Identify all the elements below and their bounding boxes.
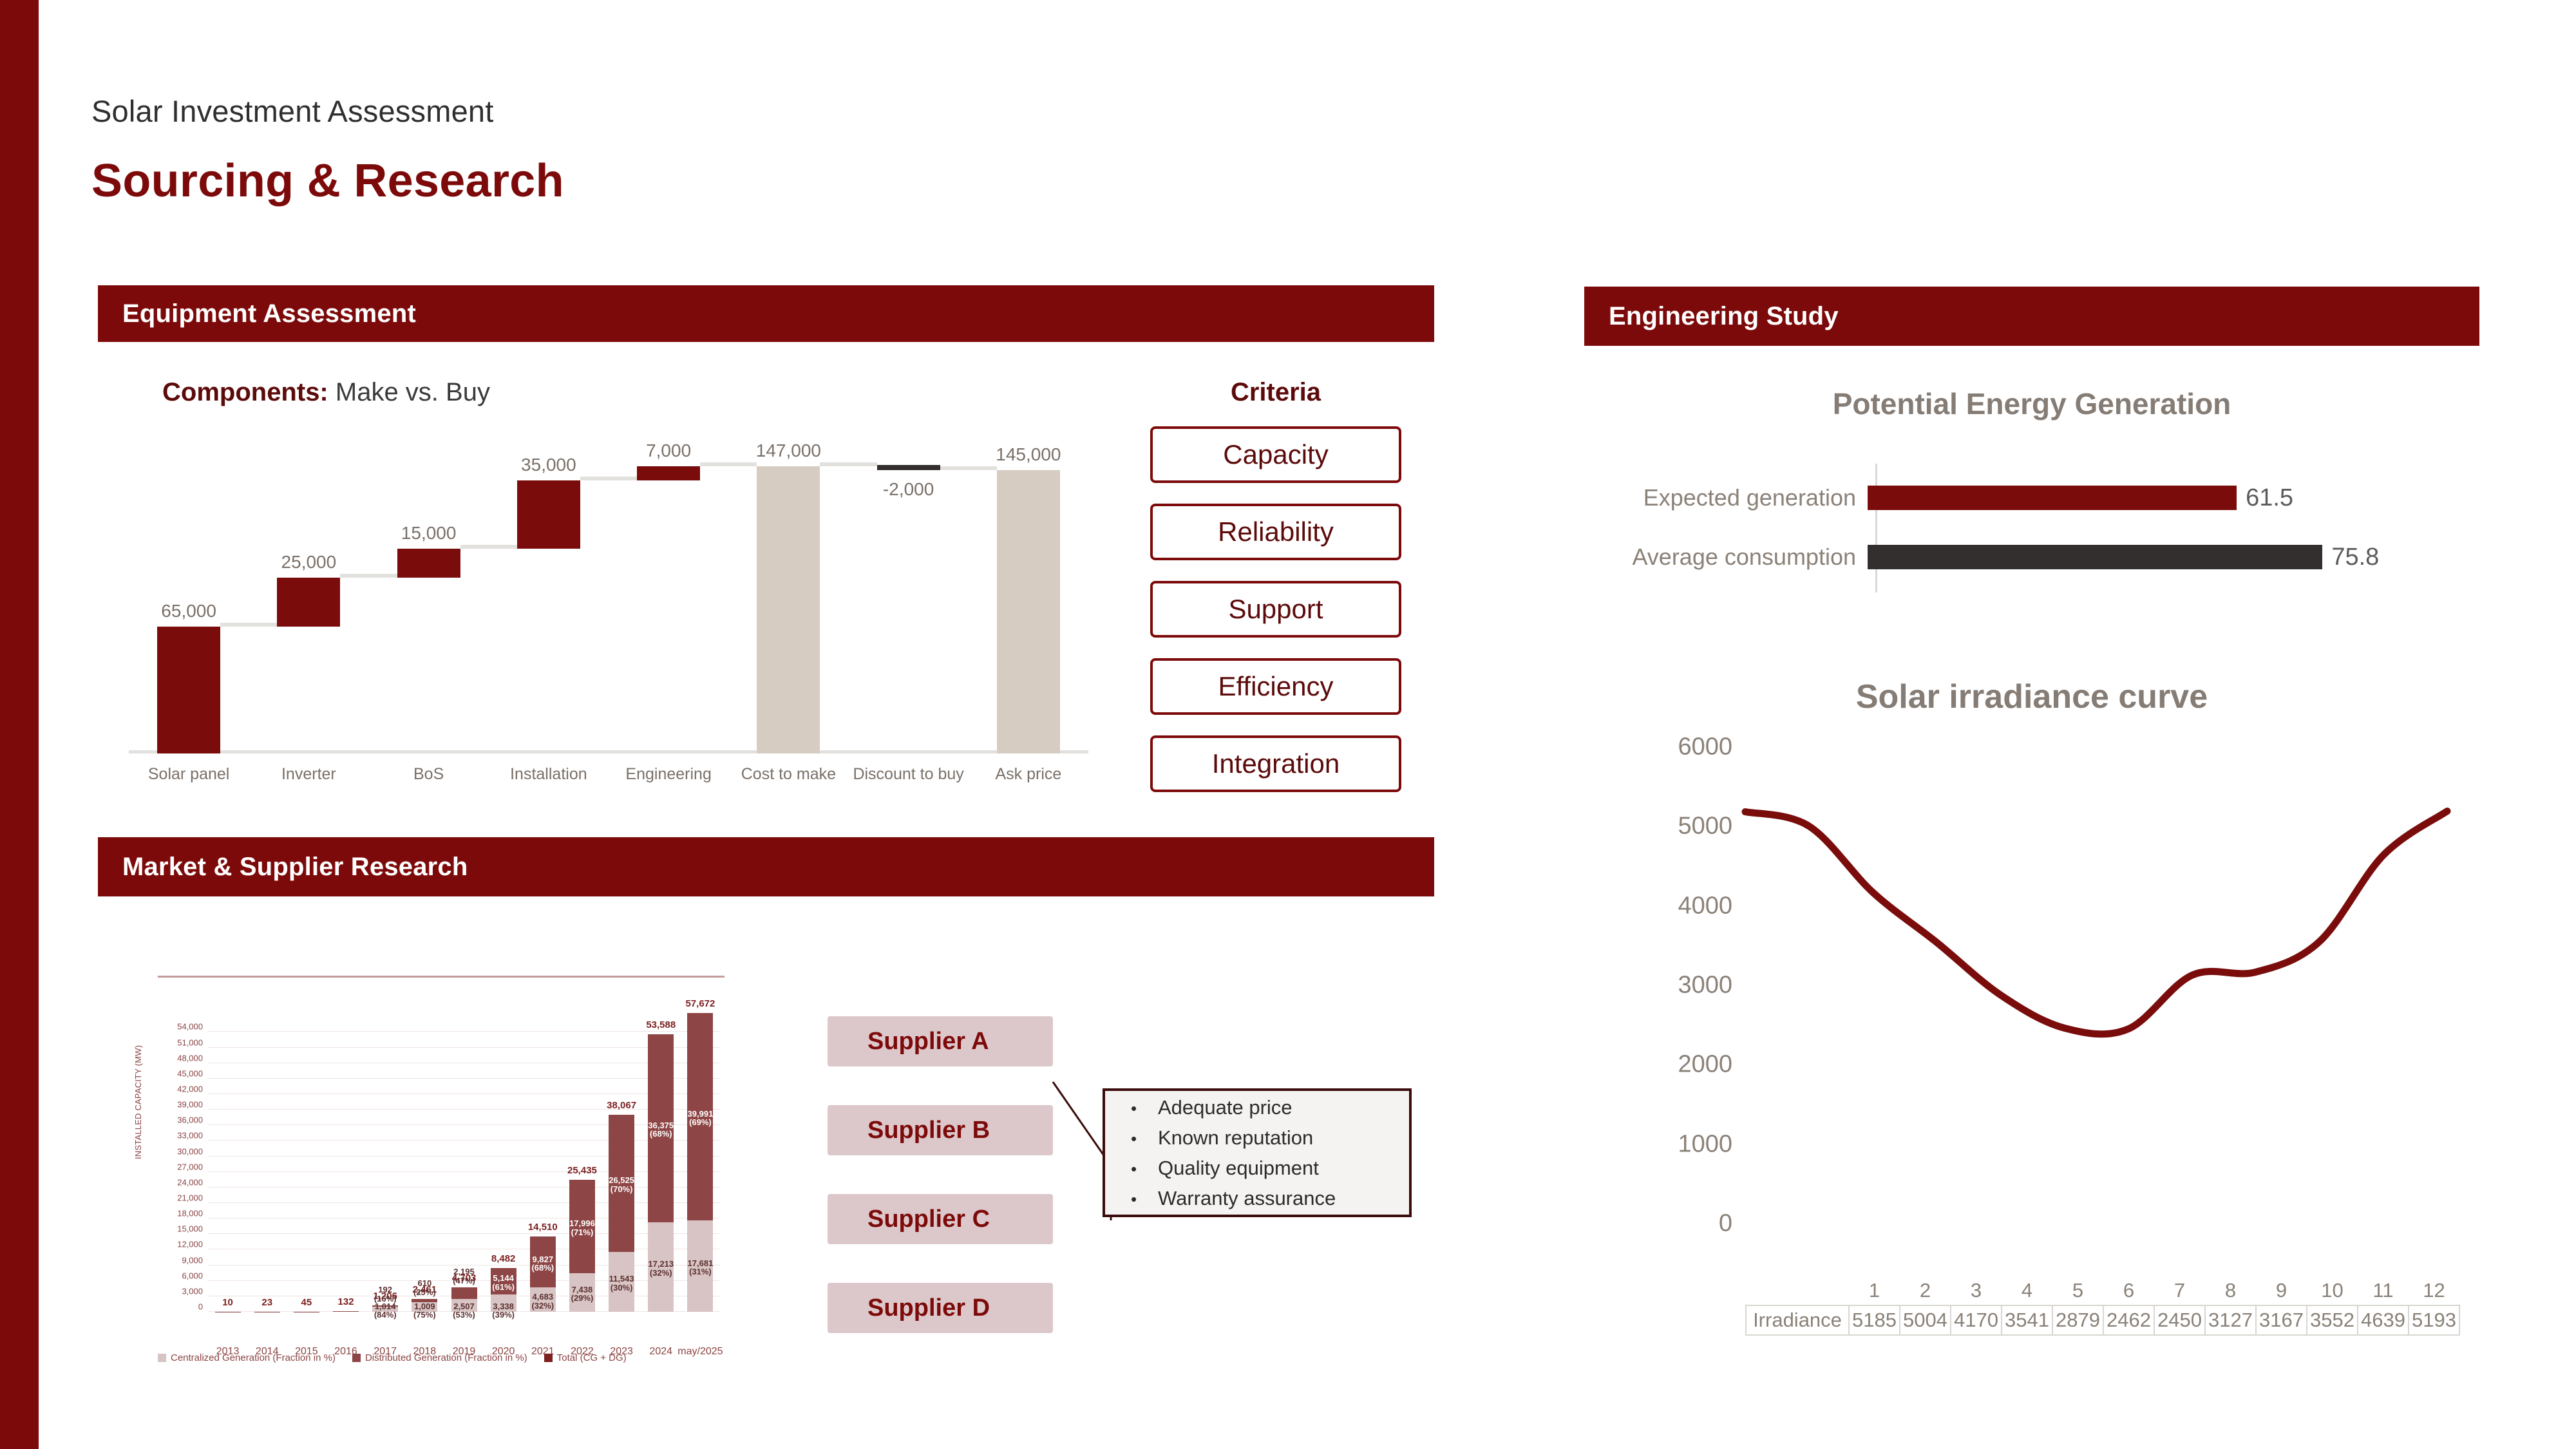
supplier-item-a[interactable]: Supplier A: [828, 1016, 1053, 1066]
table-column-header: 2: [1900, 1276, 1951, 1305]
table-cell: 3167: [2256, 1305, 2307, 1335]
gridline: [208, 1078, 720, 1079]
table-column-header: 11: [2358, 1276, 2409, 1305]
bullet-icon: •: [1131, 1187, 1158, 1213]
bullet-icon: •: [1131, 1157, 1158, 1182]
table-cell: 5193: [2409, 1305, 2459, 1335]
y-axis-tick: 3,000: [155, 1286, 203, 1296]
bar-label-distributed: 39,991(69%): [665, 1110, 735, 1127]
table-cell: 5185: [1849, 1305, 1900, 1335]
slide-canvas: Solar Investment Assessment Sourcing & R…: [0, 0, 2576, 1449]
gridline: [208, 1233, 720, 1234]
y-axis-tick: 30,000: [155, 1146, 203, 1156]
y-axis-tick: 18,000: [155, 1209, 203, 1218]
y-axis-tick: 4000: [1623, 892, 1732, 920]
callout-list-item: •Adequate price: [1131, 1092, 1409, 1122]
callout-list-item: •Warranty assurance: [1131, 1183, 1409, 1213]
waterfall-connector: [460, 545, 517, 549]
potential-energy-bar: [1868, 486, 2237, 510]
potential-energy-row-label: Average consumption: [1584, 544, 1868, 571]
table-column-header: 6: [2103, 1276, 2154, 1305]
y-axis-tick: 1000: [1623, 1130, 1732, 1158]
waterfall-value-label: 147,000: [731, 440, 846, 461]
waterfall-title-bold: Components:: [162, 378, 328, 406]
criteria-item-support[interactable]: Support: [1150, 581, 1401, 638]
waterfall-bar: [157, 627, 220, 753]
table-row: Irradiance518550044170354128792462245031…: [1746, 1305, 2459, 1335]
waterfall-connector: [700, 462, 757, 466]
table-row: 123456789101112: [1746, 1276, 2459, 1305]
table-column-header: 8: [2205, 1276, 2256, 1305]
supplier-label: Supplier D: [867, 1294, 990, 1322]
waterfall-value-label: 25,000: [251, 552, 366, 573]
y-axis-tick: 12,000: [155, 1240, 203, 1249]
supplier-label: Supplier A: [867, 1028, 989, 1056]
table-cell: 5004: [1900, 1305, 1951, 1335]
callout-text: Quality equipment: [1158, 1153, 1319, 1183]
table-column-header: 12: [2409, 1276, 2459, 1305]
y-axis-tick: 5000: [1623, 813, 1732, 840]
waterfall-bar: [997, 470, 1060, 753]
y-axis-tick: 51,000: [155, 1037, 203, 1047]
waterfall-bar: [277, 578, 340, 627]
y-axis-tick: 45,000: [155, 1068, 203, 1078]
section-header-engineering: Engineering Study: [1584, 287, 2479, 346]
y-axis-tick: 24,000: [155, 1177, 203, 1187]
gridline: [208, 1218, 720, 1218]
waterfall-title: Components: Make vs. Buy: [162, 378, 490, 407]
legend-swatch-icon: [158, 1354, 166, 1362]
gridline: [208, 1171, 720, 1172]
gridline: [208, 1249, 720, 1249]
callout-text: Known reputation: [1158, 1122, 1313, 1153]
y-axis-tick: 2000: [1623, 1051, 1732, 1079]
waterfall-value-label: 35,000: [491, 455, 606, 475]
table-cell: 4639: [2358, 1305, 2409, 1335]
section-header-market-label: Market & Supplier Research: [98, 853, 468, 882]
y-axis-tick: 48,000: [155, 1053, 203, 1063]
table-cell: 2462: [2103, 1305, 2154, 1335]
legend-swatch-icon: [544, 1354, 553, 1362]
gridline: [208, 1031, 720, 1032]
y-axis-tick: 33,000: [155, 1131, 203, 1141]
table-column-header: 10: [2307, 1276, 2358, 1305]
legend-label: Total (CG + DG): [557, 1352, 627, 1363]
table-row-header: Irradiance: [1746, 1305, 1849, 1335]
waterfall-value-label: 65,000: [131, 601, 246, 621]
bar-label-distributed: 5,144(61%): [468, 1274, 539, 1291]
gridline: [208, 1140, 720, 1141]
supplier-callout: •Adequate price •Known reputation •Quali…: [1103, 1088, 1412, 1217]
waterfall-baseline: [129, 750, 1088, 753]
supplier-item-c[interactable]: Supplier C: [828, 1194, 1053, 1244]
gridline: [208, 1202, 720, 1203]
gridline: [208, 1094, 720, 1094]
table-column-header: 5: [2052, 1276, 2103, 1305]
waterfall-category-label: Discount to buy: [849, 765, 969, 784]
table-cell: 3127: [2205, 1305, 2256, 1335]
y-axis-tick: 6000: [1623, 734, 1732, 761]
legend-label: Distributed Generation (Fraction in %): [365, 1352, 527, 1363]
y-axis-tick: 42,000: [155, 1084, 203, 1094]
waterfall-bar: [637, 466, 700, 480]
potential-energy-row: Expected generation61.5: [1584, 482, 2479, 514]
installed-capacity-chart: INSTALLED CAPACITY (MW) 03,0006,0009,000…: [151, 966, 737, 1385]
installed-capacity-legend: Centralized Generation (Fraction in %)Di…: [158, 1352, 627, 1363]
criteria-item-label: Integration: [1212, 748, 1340, 779]
waterfall-value-label: 145,000: [971, 444, 1086, 465]
bullet-icon: •: [1131, 1126, 1158, 1152]
section-header-market: Market & Supplier Research: [98, 837, 1434, 896]
table-column-header: 7: [2154, 1276, 2205, 1305]
y-axis-tick: 54,000: [155, 1022, 203, 1032]
slide-eyebrow: Solar Investment Assessment: [91, 93, 494, 129]
irradiance-data-table: 123456789101112Irradiance518550044170354…: [1745, 1275, 2460, 1336]
bar-label-centralized: 17,681(31%): [665, 1259, 735, 1276]
section-header-equipment-label: Equipment Assessment: [98, 299, 416, 328]
y-axis-tick: 21,000: [155, 1193, 203, 1203]
supplier-label: Supplier C: [867, 1206, 990, 1233]
table-cell: 4170: [1951, 1305, 2002, 1335]
gridline: [208, 1047, 720, 1048]
installed-capacity-y-axis-label: INSTALLED CAPACITY (MW): [133, 1045, 143, 1159]
waterfall-value-label: 15,000: [372, 523, 486, 544]
table-cell: 3552: [2307, 1305, 2358, 1335]
bar-label-distributed: 17,996(71%): [547, 1219, 618, 1236]
irradiance-chart: 123456789101112Irradiance518550044170354…: [1584, 734, 2486, 1327]
waterfall-connector: [580, 477, 637, 480]
table-column-header: 3: [1951, 1276, 2002, 1305]
table-corner-cell: [1746, 1276, 1849, 1305]
y-axis-tick: 36,000: [155, 1115, 203, 1125]
gridline: [208, 1156, 720, 1157]
bar-label-distributed: 26,525(70%): [586, 1176, 657, 1193]
table-column-header: 4: [2002, 1276, 2052, 1305]
bar-total-label: 57,672: [661, 998, 739, 1009]
waterfall-value-label: 7,000: [611, 440, 726, 461]
y-axis-tick: 0: [1623, 1210, 1732, 1238]
section-header-engineering-label: Engineering Study: [1584, 302, 1839, 331]
waterfall-title-rest: Make vs. Buy: [328, 378, 490, 406]
irradiance-plot: [1745, 747, 2447, 1224]
supplier-item-b[interactable]: Supplier B: [828, 1105, 1053, 1155]
criteria-item-label: Capacity: [1223, 439, 1328, 470]
y-axis-tick: 27,000: [155, 1162, 203, 1171]
waterfall-connector: [220, 623, 277, 627]
criteria-item-label: Support: [1228, 594, 1323, 625]
waterfall-bar: [517, 480, 580, 549]
waterfall-bar: [397, 549, 460, 578]
waterfall-category-label: Inverter: [249, 765, 368, 784]
waterfall-connector: [820, 462, 876, 466]
table-cell: 3541: [2002, 1305, 2052, 1335]
waterfall-value-label: -2,000: [851, 479, 966, 500]
waterfall-category-label: BoS: [369, 765, 489, 784]
criteria-item-label: Reliability: [1218, 516, 1334, 547]
waterfall-category-label: Cost to make: [728, 765, 848, 784]
supplier-label: Supplier B: [867, 1117, 990, 1144]
criteria-item-efficiency[interactable]: Efficiency: [1150, 658, 1401, 715]
table-column-header: 9: [2256, 1276, 2307, 1305]
callout-text: Warranty assurance: [1158, 1183, 1336, 1213]
legend-item: Distributed Generation (Fraction in %): [352, 1352, 527, 1363]
waterfall-category-label: Ask price: [969, 765, 1088, 784]
page-title: Sourcing & Research: [91, 155, 564, 207]
potential-energy-bar: [1868, 545, 2322, 569]
x-axis-tick: may/2025: [661, 1346, 739, 1358]
criteria-item-integration[interactable]: Integration: [1150, 735, 1401, 792]
potential-energy-row-label: Expected generation: [1584, 484, 1868, 511]
waterfall-category-label: Engineering: [609, 765, 728, 784]
waterfall-connector: [340, 574, 397, 578]
potential-energy-title: Potential Energy Generation: [1584, 386, 2479, 421]
legend-swatch-icon: [352, 1354, 361, 1362]
waterfall-bar: [757, 466, 820, 753]
potential-energy-chart: Expected generation61.5Average consumpti…: [1584, 464, 2479, 592]
left-accent-strip: [0, 0, 39, 1449]
potential-energy-row: Average consumption75.8: [1584, 541, 2479, 573]
y-axis-tick: 3000: [1623, 972, 1732, 999]
criteria-item-capacity[interactable]: Capacity: [1150, 426, 1401, 483]
supplier-item-d[interactable]: Supplier D: [828, 1283, 1053, 1333]
potential-energy-value: 75.8: [2322, 544, 2379, 571]
chart-top-rule: [158, 976, 724, 978]
callout-list-item: •Quality equipment: [1131, 1153, 1409, 1183]
gridline: [208, 1063, 720, 1063]
bar-label-distributed: 9,827(68%): [507, 1255, 578, 1273]
callout-list-item: •Known reputation: [1131, 1122, 1409, 1153]
waterfall-category-label: Installation: [489, 765, 609, 784]
potential-energy-value: 61.5: [2237, 484, 2293, 512]
criteria-item-label: Efficiency: [1218, 671, 1334, 702]
y-axis-tick: 15,000: [155, 1224, 203, 1234]
table-cell: 2879: [2052, 1305, 2103, 1335]
bullet-icon: •: [1131, 1096, 1158, 1122]
legend-label: Centralized Generation (Fraction in %): [171, 1352, 336, 1363]
y-axis-tick: 39,000: [155, 1100, 203, 1110]
criteria-title: Criteria: [1150, 378, 1401, 407]
table-cell: 2450: [2154, 1305, 2205, 1335]
table-column-header: 1: [1849, 1276, 1900, 1305]
waterfall-connector: [940, 466, 997, 470]
irradiance-line: [1745, 747, 2447, 1224]
criteria-item-reliability[interactable]: Reliability: [1150, 504, 1401, 560]
waterfall-bar: [877, 465, 940, 470]
waterfall-category-label: Solar panel: [129, 765, 249, 784]
y-axis-tick: 9,000: [155, 1255, 203, 1265]
legend-item: Centralized Generation (Fraction in %): [158, 1352, 336, 1363]
section-header-equipment: Equipment Assessment: [98, 285, 1434, 342]
y-axis-tick: 6,000: [155, 1271, 203, 1280]
waterfall-chart: 65,00025,00015,00035,0007,000147,000-2,0…: [129, 438, 1095, 753]
callout-text: Adequate price: [1158, 1092, 1293, 1122]
legend-item: Total (CG + DG): [544, 1352, 627, 1363]
installed-capacity-plot: 03,0006,0009,00012,00015,00018,00021,000…: [208, 995, 720, 1312]
irradiance-title: Solar irradiance curve: [1584, 677, 2479, 716]
